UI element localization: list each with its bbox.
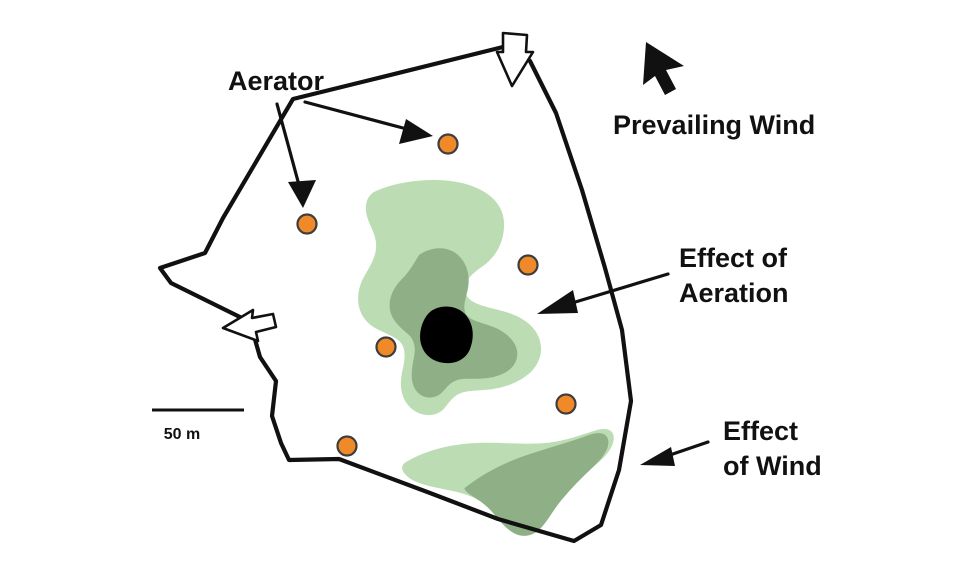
aerator-dot[interactable]: [439, 135, 458, 154]
aerator-dot[interactable]: [557, 395, 576, 414]
effect-of-aeration-label-line2: Aeration: [679, 278, 789, 308]
pond-aeration-diagram: Aerator Prevailing Wind Effect of Aerati…: [0, 0, 960, 563]
aerator-label: Aerator: [228, 66, 325, 96]
effect-of-wind-label-line2: of Wind: [723, 451, 822, 481]
effect-of-aeration-label-line1: Effect of: [679, 243, 788, 273]
scale-bar-label: 50 m: [164, 426, 200, 443]
prevailing-wind-label: Prevailing Wind: [613, 110, 815, 140]
aerator-dot[interactable]: [338, 437, 357, 456]
aerator-dot[interactable]: [377, 338, 396, 357]
aerator-dot[interactable]: [298, 215, 317, 234]
effect-of-wind-label-line1: Effect: [723, 416, 798, 446]
aeration-plume-core: [420, 306, 473, 363]
aerator-dot[interactable]: [519, 256, 538, 275]
